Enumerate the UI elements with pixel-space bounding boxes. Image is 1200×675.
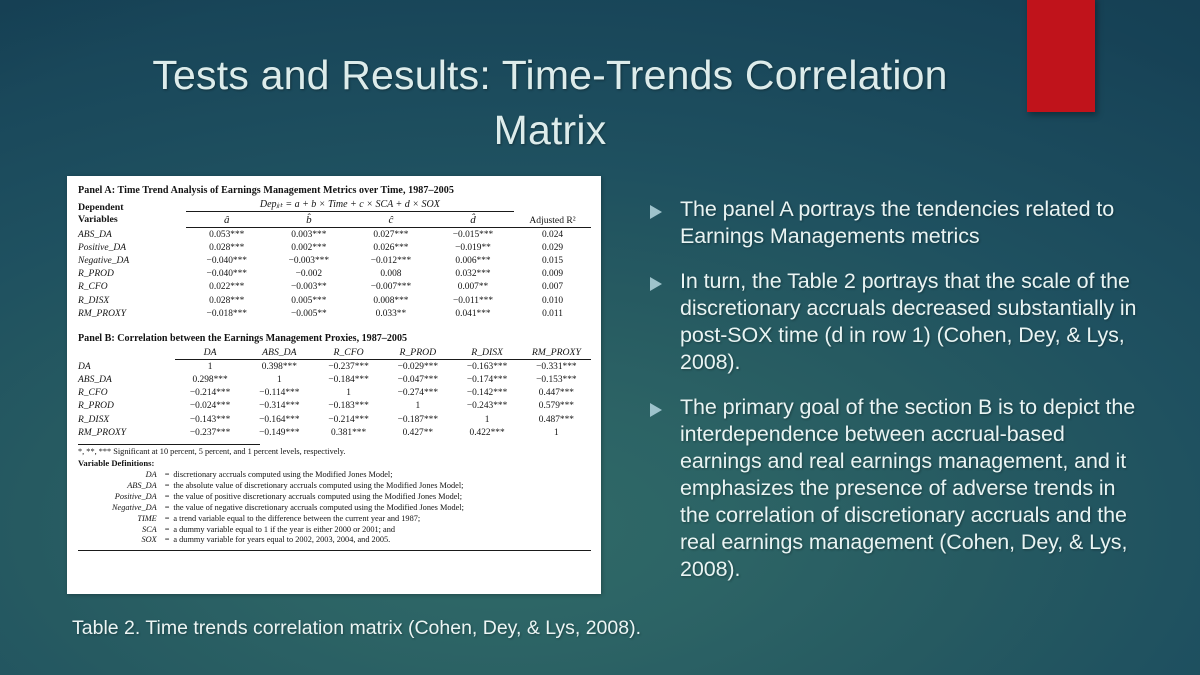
cell-r2: 0.024: [514, 228, 591, 242]
table-row: Negative_DA −0.040*** −0.003*** −0.012**…: [78, 254, 591, 267]
corr-cell: 0.447***: [522, 387, 591, 400]
cell-c: 0.008***: [350, 294, 432, 307]
coef-header-a: â: [186, 212, 268, 228]
definition-row: DA = discretionary accruals computed usi…: [112, 470, 464, 481]
cell-b: 0.002***: [268, 241, 350, 254]
corr-cell: −0.243***: [452, 400, 521, 413]
row-variable: Positive_DA: [78, 241, 186, 254]
row-variable: R_CFO: [78, 387, 175, 400]
panel-a-table: Dependent Variables Depⱼᵢₜ = a + b × Tim…: [78, 199, 591, 320]
panel-b-title: Panel B: Correlation between the Earning…: [78, 333, 591, 344]
equals-sign: =: [161, 514, 174, 525]
definition-term: DA: [112, 470, 161, 481]
cell-a: −0.040***: [186, 254, 268, 267]
cell-b: −0.002: [268, 268, 350, 281]
panel-b-col-da: DA: [175, 347, 244, 360]
definition-row: SOX = a dummy variable for years equal t…: [112, 535, 464, 546]
corr-cell: −0.142***: [452, 387, 521, 400]
panel-b-col-r-cfo: R_CFO: [314, 347, 383, 360]
corr-cell: −0.184***: [314, 374, 383, 387]
list-item: The primary goal of the section B is to …: [650, 394, 1150, 583]
equals-sign: =: [161, 470, 174, 481]
corr-cell: −0.029***: [383, 360, 452, 374]
definition-text: a dummy variable for years equal to 2002…: [173, 535, 464, 546]
cell-r2: 0.011: [514, 307, 591, 320]
cell-d: −0.015***: [432, 228, 514, 242]
cell-r2: 0.015: [514, 254, 591, 267]
cell-a: 0.028***: [186, 241, 268, 254]
corr-cell: 0.381***: [314, 426, 383, 439]
row-variable: RM_PROXY: [78, 307, 186, 320]
panel-a-equation: Depⱼᵢₜ = a + b × Time + c × SCA + d × SO…: [186, 199, 514, 212]
corr-cell: −0.153***: [522, 374, 591, 387]
corr-cell: 1: [314, 387, 383, 400]
panel-a-title: Panel A: Time Trend Analysis of Earnings…: [78, 185, 591, 196]
corr-cell: −0.237***: [175, 426, 244, 439]
corr-cell: −0.331***: [522, 360, 591, 374]
row-variable: ABS_DA: [78, 374, 175, 387]
definition-term: TIME: [112, 514, 161, 525]
bullet-arrow-icon: [650, 196, 680, 219]
cell-r2: 0.029: [514, 241, 591, 254]
corr-cell: −0.163***: [452, 360, 521, 374]
equals-sign: =: [161, 503, 174, 514]
corr-cell: −0.114***: [245, 387, 314, 400]
corr-cell: −0.214***: [175, 387, 244, 400]
table-image-panel: Panel A: Time Trend Analysis of Earnings…: [67, 176, 601, 594]
definition-text: a trend variable equal to the difference…: [173, 514, 464, 525]
row-variable: R_DISX: [78, 294, 186, 307]
cell-d: −0.019**: [432, 241, 514, 254]
cell-b: −0.003**: [268, 281, 350, 294]
table-caption: Table 2. Time trends correlation matrix …: [72, 617, 641, 640]
cell-b: 0.005***: [268, 294, 350, 307]
definition-text: the value of negative discretionary accr…: [173, 503, 464, 514]
corr-cell: −0.187***: [383, 413, 452, 426]
row-variable: RM_PROXY: [78, 426, 175, 439]
cell-d: 0.006***: [432, 254, 514, 267]
cell-r2: 0.007: [514, 281, 591, 294]
table-bottom-divider: [78, 550, 591, 551]
definition-row: Negative_DA = the value of negative disc…: [112, 503, 464, 514]
cell-d: 0.007**: [432, 281, 514, 294]
row-variable: R_DISX: [78, 413, 175, 426]
definition-term: Positive_DA: [112, 492, 161, 503]
coef-header-c: ĉ: [350, 212, 432, 228]
table-row: R_DISX 0.028*** 0.005*** 0.008*** −0.011…: [78, 294, 591, 307]
corr-cell: 1: [175, 360, 244, 374]
definition-row: SCA = a dummy variable equal to 1 if the…: [112, 525, 464, 536]
equals-sign: =: [161, 481, 174, 492]
cell-a: 0.053***: [186, 228, 268, 242]
corr-cell: −0.164***: [245, 413, 314, 426]
page-title: Tests and Results: Time-Trends Correlati…: [100, 48, 1000, 158]
cell-a: 0.028***: [186, 294, 268, 307]
cell-b: 0.003***: [268, 228, 350, 242]
corr-cell: −0.183***: [314, 400, 383, 413]
table-row: ABS_DA 0.053*** 0.003*** 0.027*** −0.015…: [78, 228, 591, 242]
cell-c: 0.027***: [350, 228, 432, 242]
red-accent-bar: [1027, 0, 1095, 112]
panel-b-table: DA ABS_DA R_CFO R_PROD R_DISX RM_PROXY D…: [78, 347, 591, 439]
table-row: R_DISX −0.143*** −0.164*** −0.214*** −0.…: [78, 413, 591, 426]
variable-definitions-table: DA = discretionary accruals computed usi…: [112, 470, 464, 547]
bullet-text: In turn, the Table 2 portrays that the s…: [680, 268, 1150, 376]
cell-a: −0.018***: [186, 307, 268, 320]
definition-text: a dummy variable equal to 1 if the year …: [173, 525, 464, 536]
corr-cell: −0.143***: [175, 413, 244, 426]
corr-cell: 0.298***: [175, 374, 244, 387]
coef-header-d: d̂: [432, 212, 514, 228]
panel-spacer: [78, 320, 591, 329]
corr-cell: −0.174***: [452, 374, 521, 387]
cell-c: −0.012***: [350, 254, 432, 267]
panel-b-col-abs-da: ABS_DA: [245, 347, 314, 360]
panel-b-col-r-disx: R_DISX: [452, 347, 521, 360]
cell-a: 0.022***: [186, 281, 268, 294]
cell-b: −0.003***: [268, 254, 350, 267]
definition-row: TIME = a trend variable equal to the dif…: [112, 514, 464, 525]
list-item: The panel A portrays the tendencies rela…: [650, 196, 1150, 250]
bullet-text: The panel A portrays the tendencies rela…: [680, 196, 1150, 250]
row-variable: R_PROD: [78, 400, 175, 413]
cell-r2: 0.009: [514, 268, 591, 281]
definition-term: SCA: [112, 525, 161, 536]
cell-d: 0.032***: [432, 268, 514, 281]
panel-b-header-row: DA ABS_DA R_CFO R_PROD R_DISX RM_PROXY: [78, 347, 591, 360]
corr-cell: −0.274***: [383, 387, 452, 400]
cell-b: −0.005**: [268, 307, 350, 320]
significance-note: *, **, *** Significant at 10 percent, 5 …: [78, 447, 591, 458]
row-variable: R_CFO: [78, 281, 186, 294]
corr-cell: −0.024***: [175, 400, 244, 413]
definition-text: discretionary accruals computed using th…: [173, 470, 464, 481]
coef-header-b: b̂: [268, 212, 350, 228]
table-row: R_CFO 0.022*** −0.003** −0.007*** 0.007*…: [78, 281, 591, 294]
list-item: In turn, the Table 2 portrays that the s…: [650, 268, 1150, 376]
table-row: RM_PROXY −0.237*** −0.149*** 0.381*** 0.…: [78, 426, 591, 439]
corr-cell: 0.398***: [245, 360, 314, 374]
table-row: Positive_DA 0.028*** 0.002*** 0.026*** −…: [78, 241, 591, 254]
definition-text: the absolute value of discretionary accr…: [173, 481, 464, 492]
corr-cell: −0.149***: [245, 426, 314, 439]
table-row: DA 1 0.398*** −0.237*** −0.029*** −0.163…: [78, 360, 591, 374]
corr-cell: 1: [383, 400, 452, 413]
equals-sign: =: [161, 535, 174, 546]
corr-cell: −0.047***: [383, 374, 452, 387]
definition-term: ABS_DA: [112, 481, 161, 492]
row-variable: Negative_DA: [78, 254, 186, 267]
variable-definitions-header: Variable Definitions:: [78, 458, 591, 470]
table-row: RM_PROXY −0.018*** −0.005** 0.033** 0.04…: [78, 307, 591, 320]
corr-cell: 0.427**: [383, 426, 452, 439]
definition-term: Negative_DA: [112, 503, 161, 514]
bullet-list: The panel A portrays the tendencies rela…: [650, 196, 1150, 601]
bullet-arrow-icon: [650, 268, 680, 291]
panel-a-equation-row: Dependent Variables Depⱼᵢₜ = a + b × Tim…: [78, 199, 591, 212]
definition-text: the value of positive discretionary accr…: [173, 492, 464, 503]
cell-c: 0.008: [350, 268, 432, 281]
definition-row: Positive_DA = the value of positive disc…: [112, 492, 464, 503]
row-variable: DA: [78, 360, 175, 374]
cell-d: −0.011***: [432, 294, 514, 307]
bullet-text: The primary goal of the section B is to …: [680, 394, 1150, 583]
bullet-arrow-icon: [650, 394, 680, 417]
table-row: R_PROD −0.024*** −0.314*** −0.183*** 1 −…: [78, 400, 591, 413]
cell-c: −0.007***: [350, 281, 432, 294]
coef-header-adjusted-r2: Adjusted R²: [514, 212, 591, 228]
slide-canvas: Tests and Results: Time-Trends Correlati…: [0, 0, 1200, 675]
row-variable: ABS_DA: [78, 228, 186, 242]
equals-sign: =: [161, 492, 174, 503]
panel-b-col-r-prod: R_PROD: [383, 347, 452, 360]
cell-c: 0.026***: [350, 241, 432, 254]
definition-row: ABS_DA = the absolute value of discretio…: [112, 481, 464, 492]
corr-cell: −0.214***: [314, 413, 383, 426]
definition-term: SOX: [112, 535, 161, 546]
corr-cell: 0.579***: [522, 400, 591, 413]
footnote-divider: [78, 444, 260, 445]
corr-cell: 1: [522, 426, 591, 439]
corr-cell: 0.487***: [522, 413, 591, 426]
equals-sign: =: [161, 525, 174, 536]
table-row: ABS_DA 0.298*** 1 −0.184*** −0.047*** −0…: [78, 374, 591, 387]
table-row: R_PROD −0.040*** −0.002 0.008 0.032*** 0…: [78, 268, 591, 281]
corr-cell: −0.237***: [314, 360, 383, 374]
cell-c: 0.033**: [350, 307, 432, 320]
corr-cell: 0.422***: [452, 426, 521, 439]
table-row: R_CFO −0.214*** −0.114*** 1 −0.274*** −0…: [78, 387, 591, 400]
cell-a: −0.040***: [186, 268, 268, 281]
cell-r2: 0.010: [514, 294, 591, 307]
row-variable: R_PROD: [78, 268, 186, 281]
corr-cell: −0.314***: [245, 400, 314, 413]
panel-b-col-rm-proxy: RM_PROXY: [522, 347, 591, 360]
panel-a-dependent-header: Dependent Variables: [78, 199, 186, 228]
corr-cell: 1: [245, 374, 314, 387]
cell-d: 0.041***: [432, 307, 514, 320]
corr-cell: 1: [452, 413, 521, 426]
